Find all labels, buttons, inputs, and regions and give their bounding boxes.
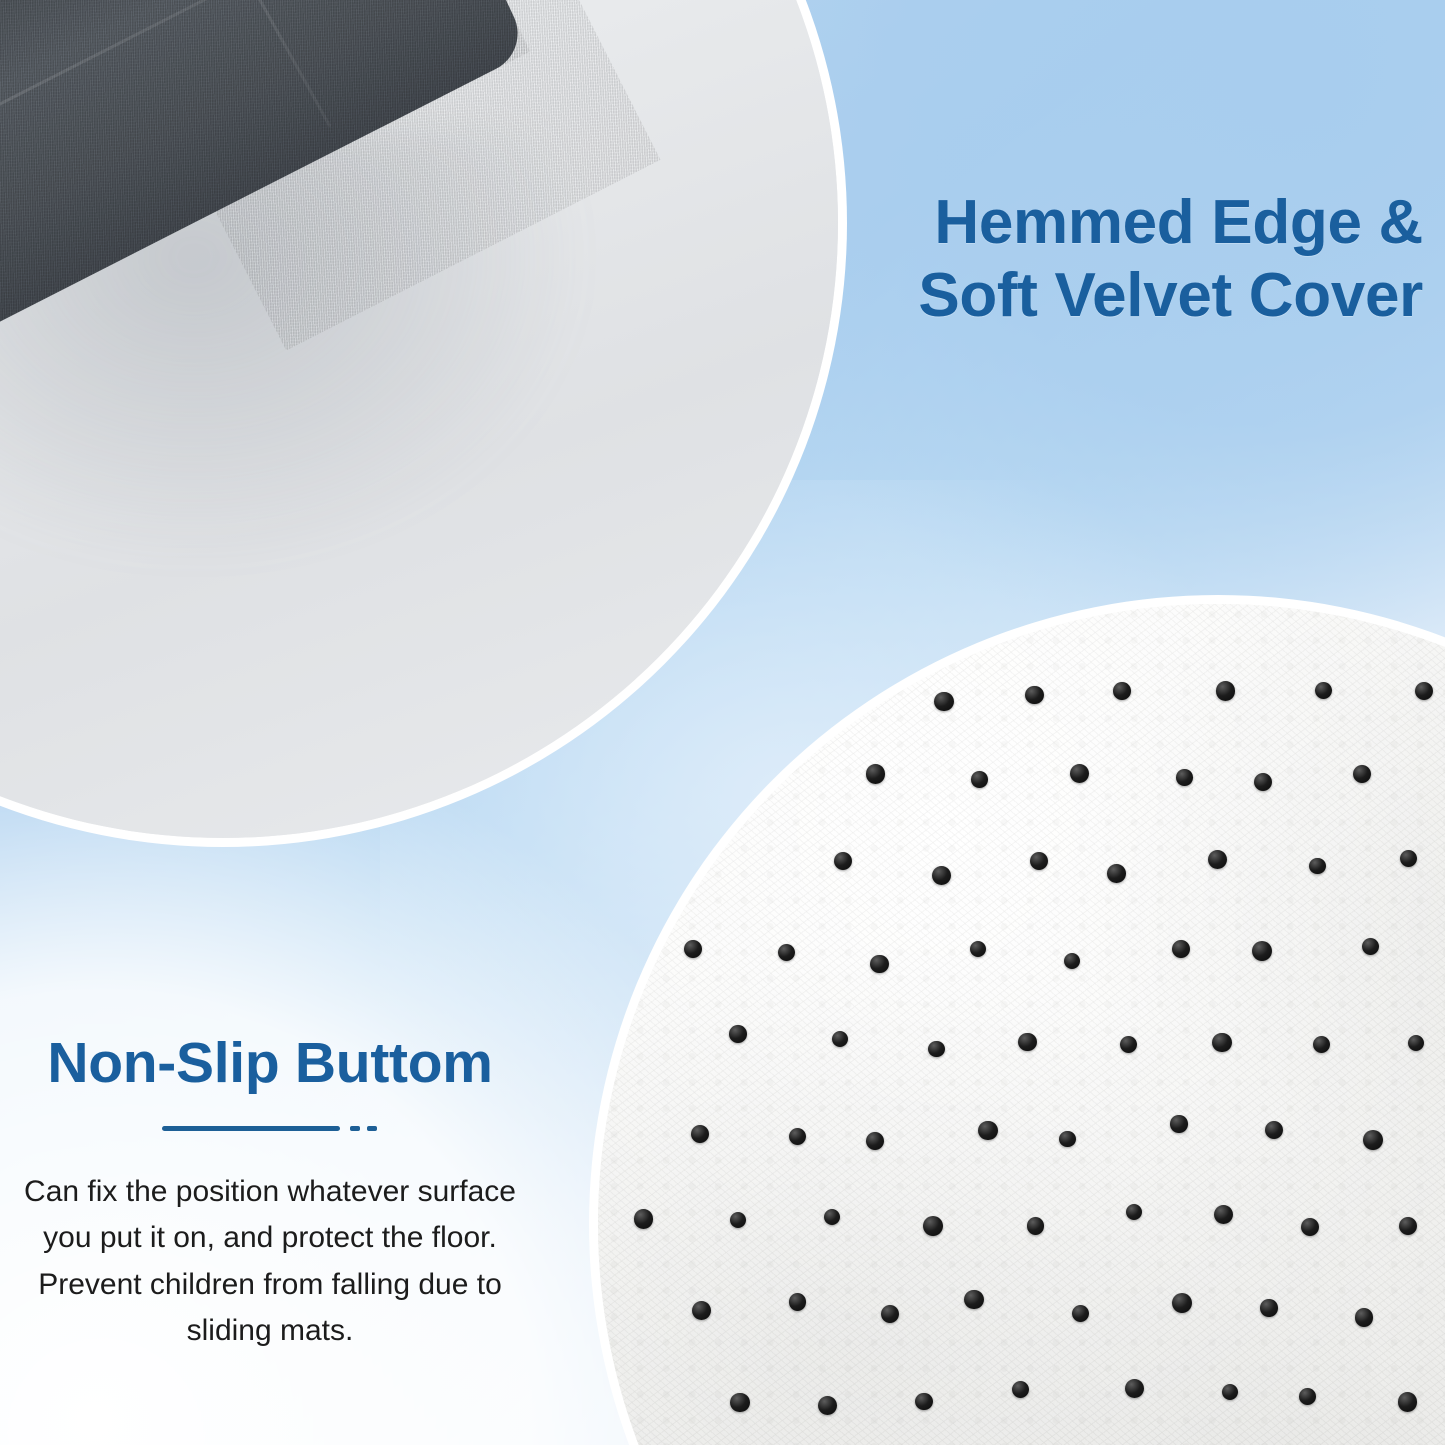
mat-dot xyxy=(1363,1130,1383,1150)
mat-dot xyxy=(934,692,953,711)
mat-dot xyxy=(789,1128,806,1145)
mat-dot xyxy=(932,866,951,885)
mat-dot xyxy=(1313,1036,1330,1053)
mat-dot xyxy=(1070,764,1089,783)
mat-dot xyxy=(881,1305,899,1323)
feature-body-line-4: sliding mats. xyxy=(16,1308,524,1355)
mat-dot xyxy=(1170,1115,1187,1132)
mat-dot xyxy=(1027,1217,1044,1234)
mat-dot xyxy=(1176,769,1193,786)
mat-dot xyxy=(870,955,889,974)
mat-dot xyxy=(971,771,988,788)
divider-dash-2 xyxy=(367,1126,377,1131)
mat-dot xyxy=(730,1393,749,1412)
mat-dot xyxy=(778,944,796,962)
mat-dot xyxy=(1107,864,1126,883)
mat-dot xyxy=(1299,1388,1316,1405)
feature-title: Non-Slip Buttom xyxy=(0,1032,540,1095)
mat-dot xyxy=(1025,686,1043,704)
mat-dot xyxy=(923,1216,943,1236)
mat-dot xyxy=(692,1301,711,1320)
mat-dot xyxy=(1254,773,1272,791)
headline-line-1: Hemmed Edge & xyxy=(918,186,1423,259)
mat-dot xyxy=(978,1121,997,1140)
feature-body-line-2: you put it on, and protect the floor. xyxy=(16,1215,524,1262)
product-feature-graphic: ILPECOD ILPECOD ILPECOD Hemmed Edge & So… xyxy=(0,0,1445,1445)
mat-dot xyxy=(729,1025,747,1043)
mat-dot xyxy=(1030,852,1048,870)
mat-dot xyxy=(1113,682,1131,700)
mat-dot xyxy=(866,764,885,783)
mat-dot xyxy=(928,1041,945,1058)
mat-dot xyxy=(964,1290,983,1309)
headline-line-2: Soft Velvet Cover xyxy=(918,259,1423,332)
feature-body-line-3: Prevent children from falling due to xyxy=(16,1262,524,1309)
mat-dot xyxy=(1408,1035,1424,1051)
feature-body: Can fix the position whatever surface yo… xyxy=(0,1169,540,1355)
mat-dot xyxy=(1126,1204,1142,1220)
mat-dot xyxy=(730,1212,746,1228)
mat-dot xyxy=(684,940,702,958)
feature-divider xyxy=(162,1121,378,1135)
mat-dot xyxy=(1208,850,1227,869)
mat-dot xyxy=(1309,858,1326,875)
mat-dot xyxy=(634,1209,653,1228)
mat-photo-circle: ILPECOD ILPECOD ILPECOD xyxy=(598,604,1445,1445)
mat-fiber-texture xyxy=(598,604,1445,1445)
mat-dot xyxy=(1355,1308,1374,1327)
mat-dot xyxy=(1260,1299,1277,1316)
mat-dot xyxy=(1362,938,1379,955)
headline: Hemmed Edge & Soft Velvet Cover xyxy=(918,186,1423,332)
mat-dot xyxy=(1064,953,1080,969)
feature-body-line-1: Can fix the position whatever surface xyxy=(16,1169,524,1216)
mat-dot xyxy=(832,1031,848,1047)
mat-dot xyxy=(1398,1392,1418,1412)
divider-dash-1 xyxy=(350,1126,360,1131)
mat-dot xyxy=(1120,1036,1137,1053)
mat-dot xyxy=(915,1393,933,1411)
mat-dot xyxy=(1059,1131,1076,1148)
mat-dot xyxy=(1353,765,1371,783)
mat-dot xyxy=(1399,1217,1417,1235)
mat-dot xyxy=(1212,1033,1232,1053)
mat-dot xyxy=(1216,681,1236,701)
divider-bar xyxy=(162,1126,340,1131)
feature-block: Non-Slip Buttom Can fix the position wha… xyxy=(0,1032,540,1355)
